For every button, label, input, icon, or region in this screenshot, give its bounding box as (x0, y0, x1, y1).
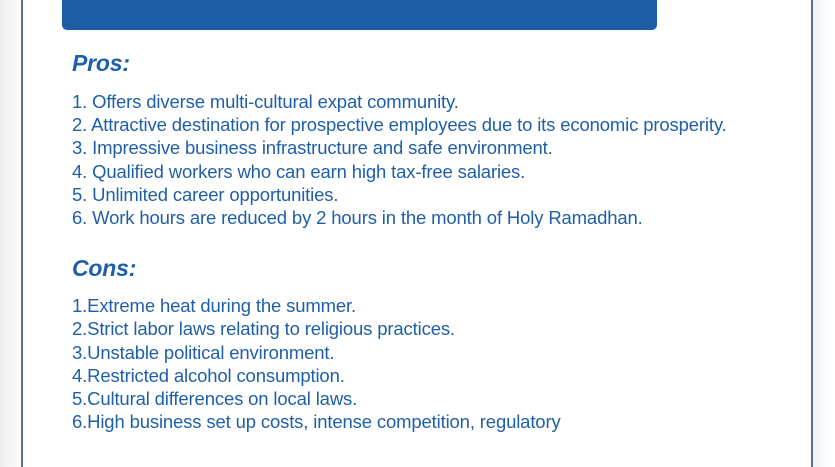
list-item: 2. Attractive destination for prospectiv… (72, 113, 772, 136)
list-item: 6.High business set up costs, intense co… (72, 410, 772, 433)
title-banner: in Dubai? (62, 0, 657, 30)
cons-list: 1.Extreme heat during the summer. 2.Stri… (72, 294, 772, 433)
pros-heading: Pros: (72, 49, 772, 77)
pros-list: 1. Offers diverse multi-cultural expat c… (72, 90, 772, 229)
right-page-gutter (812, 0, 835, 467)
article-card: in Dubai? Pros: 1. Offers diverse multi-… (23, 0, 811, 467)
section-cons: Cons: 1.Extreme heat during the summer. … (72, 254, 772, 433)
list-item: 1.Extreme heat during the summer. (72, 294, 772, 317)
article-body: Pros: 1. Offers diverse multi-cultural e… (72, 49, 772, 433)
list-item: 5.Cultural differences on local laws. (72, 387, 772, 410)
list-item: 3. Impressive business infrastructure an… (72, 136, 772, 159)
document-viewport: in Dubai? Pros: 1. Offers diverse multi-… (0, 0, 835, 467)
list-item: 6. Work hours are reduced by 2 hours in … (72, 206, 772, 229)
list-item: 4. Qualified workers who can earn high t… (72, 160, 772, 183)
list-item: 5. Unlimited career opportunities. (72, 183, 772, 206)
card-right-border (811, 0, 813, 467)
list-item: 2.Strict labor laws relating to religiou… (72, 317, 772, 340)
left-page-gutter (0, 0, 23, 467)
list-item: 3.Unstable political environment. (72, 341, 772, 364)
list-item: 4.Restricted alcohol consumption. (72, 364, 772, 387)
list-item: 1. Offers diverse multi-cultural expat c… (72, 90, 772, 113)
section-pros: Pros: 1. Offers diverse multi-cultural e… (72, 49, 772, 229)
cons-heading: Cons: (72, 254, 772, 282)
